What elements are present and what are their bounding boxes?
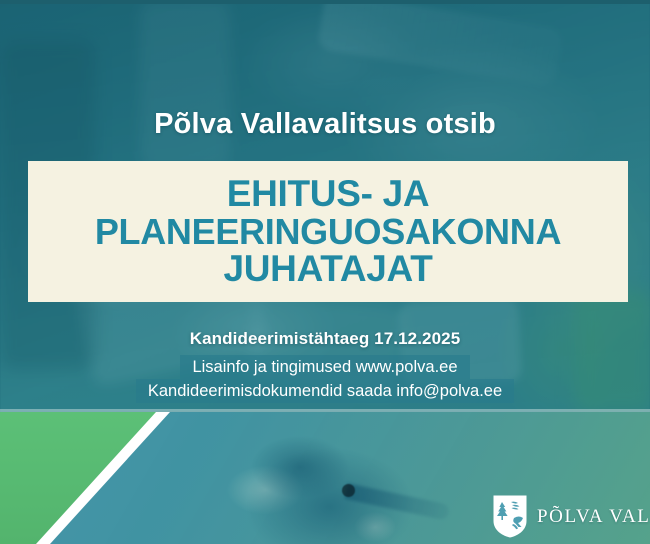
polva-vald-logo: PÕLVA VALD: [492, 494, 650, 539]
poster-kicker: Põlva Vallavalitsus otsib: [0, 108, 650, 141]
headline-line-3: JUHATAJAT: [95, 250, 561, 288]
polva-coat-of-arms-icon: [492, 494, 528, 539]
top-accent-strip: [0, 0, 650, 4]
headline-text: EHITUS- JA PLANEERINGUOSAKONNA JUHATAJAT: [85, 175, 571, 288]
logo-wordmark: PÕLVA VALD: [537, 506, 650, 528]
headline-panel: EHITUS- JA PLANEERINGUOSAKONNA JUHATAJAT: [28, 161, 628, 302]
application-deadline: Kandideerimistähtaeg 17.12.2025: [0, 329, 650, 349]
headline-line-1: EHITUS- JA: [95, 175, 561, 213]
info-line-email[interactable]: Kandideerimisdokumendid saada info@polva…: [136, 379, 514, 403]
job-advert-poster: Põlva Vallavalitsus otsib EHITUS- JA PLA…: [0, 0, 650, 544]
info-line-website[interactable]: Lisainfo ja tingimused www.polva.ee: [180, 355, 469, 379]
headline-line-2: PLANEERINGUOSAKONNA: [95, 213, 561, 250]
poster-content: Põlva Vallavalitsus otsib EHITUS- JA PLA…: [0, 0, 650, 544]
info-lines: Lisainfo ja tingimused www.polva.ee Kand…: [0, 355, 650, 403]
